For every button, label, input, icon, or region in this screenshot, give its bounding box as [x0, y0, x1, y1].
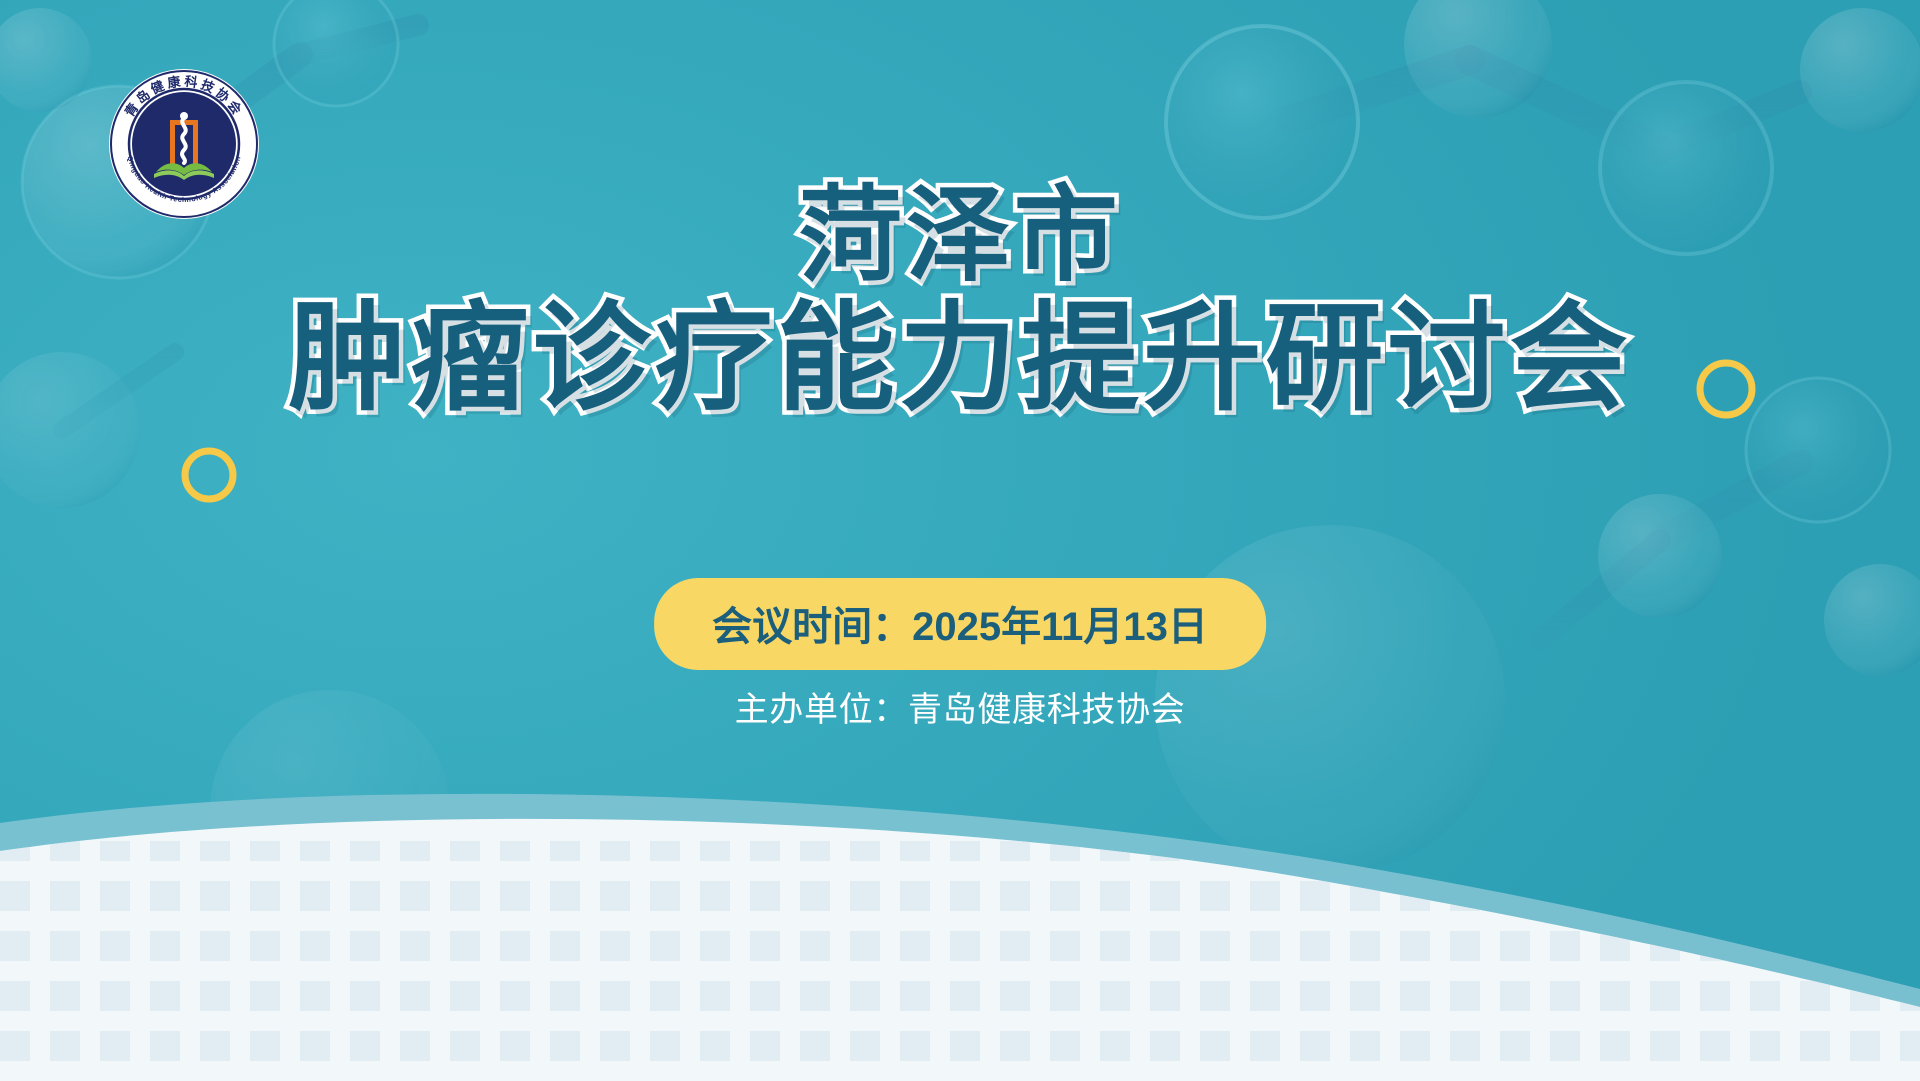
wave-divider-icon — [0, 781, 1920, 1081]
conference-title: 菏泽市 肿瘤诊疗能力提升研讨会 — [0, 180, 1920, 424]
conference-banner: 青岛健康科技协会 Qingdao Health Technology Assoc… — [0, 0, 1920, 1081]
yellow-circle-outline-left-icon — [180, 446, 238, 504]
organizer-line: 主办单位：青岛健康科技协会 — [735, 682, 1186, 731]
title-line-topic: 肿瘤诊疗能力提升研讨会 — [0, 296, 1920, 423]
meeting-date-badge: 会议时间：2025年11月13日 — [654, 578, 1266, 670]
bottom-wave-decoration — [0, 781, 1920, 1081]
title-line-city: 菏泽市 — [0, 180, 1920, 292]
